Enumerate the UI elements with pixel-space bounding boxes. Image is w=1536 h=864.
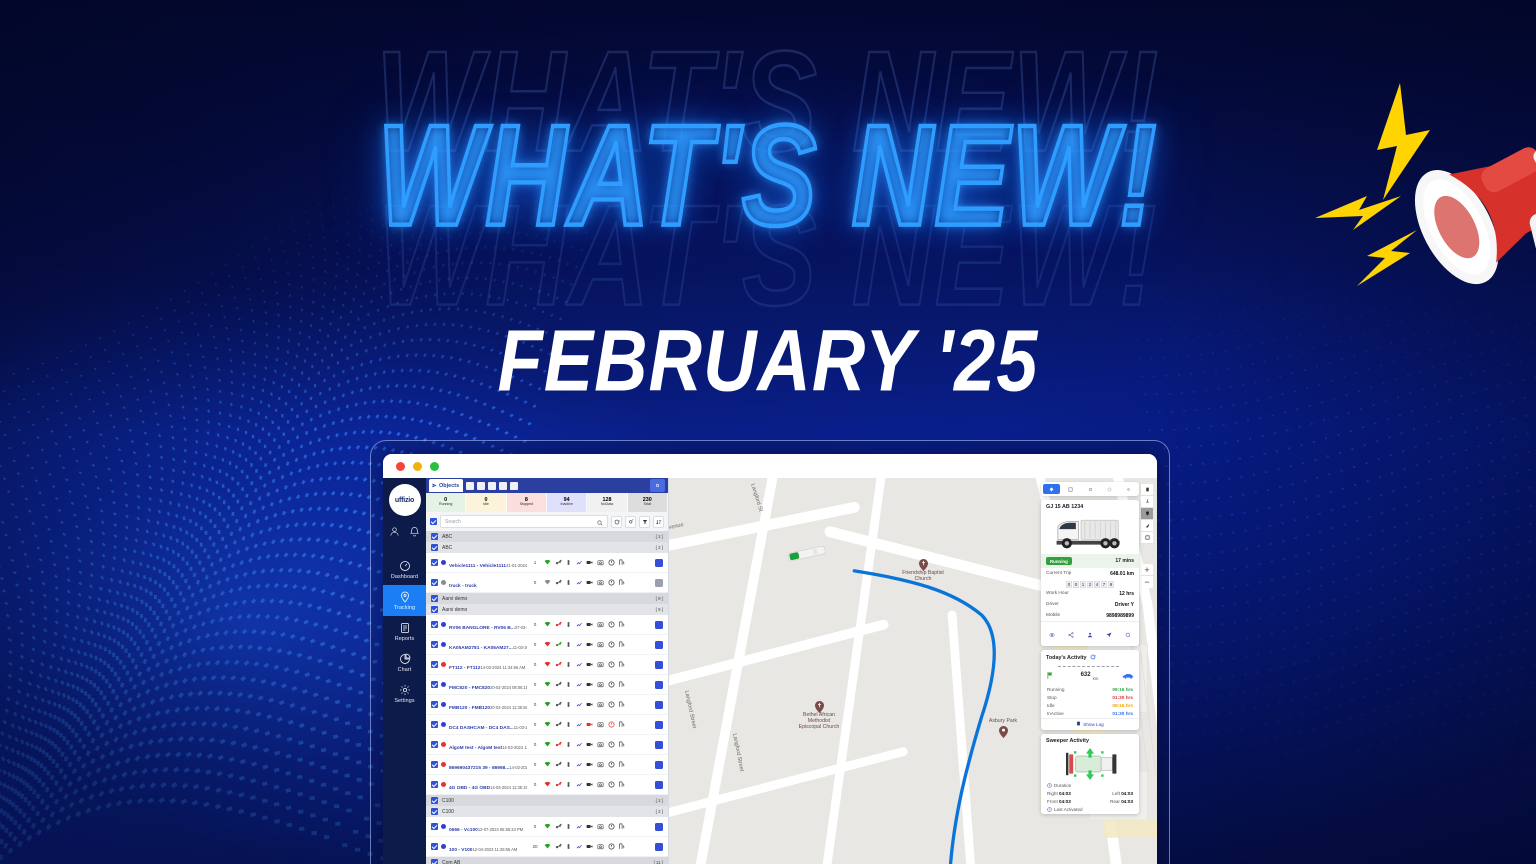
- maximize-button[interactable]: [430, 462, 439, 471]
- fuel-icon[interactable]: [618, 781, 625, 788]
- bell-icon[interactable]: [409, 524, 420, 542]
- status-dot: [441, 742, 446, 747]
- sidebar-item-label: Chart: [398, 667, 412, 673]
- tab-gear[interactable]: [1081, 484, 1098, 494]
- stat-running[interactable]: 0Running: [426, 493, 466, 512]
- fuel-icon[interactable]: [618, 681, 625, 688]
- sidebar-item-settings[interactable]: Settings: [383, 678, 426, 709]
- row-checkbox[interactable]: [431, 721, 438, 728]
- sweeper-label: Front: [1047, 799, 1058, 804]
- sidebar-item-chart[interactable]: Chart: [383, 647, 426, 678]
- vehicle-timestamp: 14-03-2024 11:11:27 AM: [509, 765, 527, 770]
- battery-icon[interactable]: [565, 761, 572, 768]
- row-action-button[interactable]: [655, 579, 663, 587]
- vehicle-timestamp: 20-02-2024 11:35:58 AM: [490, 705, 527, 710]
- row-checkbox[interactable]: [431, 681, 438, 688]
- vehicle-row[interactable]: 100 - V10012-04-2023 11:26:55 AM20: [426, 837, 668, 857]
- group-checkbox[interactable]: [431, 859, 438, 864]
- camera-icon[interactable]: [586, 701, 593, 708]
- row-checkbox[interactable]: [431, 621, 438, 628]
- fuel-icon[interactable]: [618, 741, 625, 748]
- ignition-key-icon[interactable]: [555, 681, 562, 688]
- row-icons[interactable]: [544, 761, 625, 768]
- group-header[interactable]: Com AB[ 11 ]: [426, 857, 668, 864]
- row-icons[interactable]: [544, 823, 625, 830]
- vehicle-panel-tabs[interactable]: [1041, 482, 1139, 496]
- photo-icon[interactable]: [597, 641, 604, 648]
- search-placeholder: Search: [445, 519, 461, 525]
- battery-icon[interactable]: [565, 843, 572, 850]
- signal-icon[interactable]: [544, 681, 551, 688]
- vehicle-row[interactable]: FT112 - FT11214-03-2024 11:34:56 AM0: [426, 655, 668, 675]
- signal-icon[interactable]: [544, 621, 551, 628]
- sidebar-item-label: Settings: [394, 698, 414, 704]
- current-trip-value: 648.01 km: [1110, 571, 1134, 577]
- camera-icon[interactable]: [586, 641, 593, 648]
- row-action-button[interactable]: [655, 823, 663, 831]
- row-action-button[interactable]: [655, 761, 663, 769]
- vehicle-row[interactable]: 869690437215 39 - 86968...14-03-2024 11:…: [426, 755, 668, 775]
- poi-friendship-baptist-church[interactable]: Friendship Baptist Church: [901, 558, 945, 583]
- layers-icon[interactable]: [1141, 484, 1153, 496]
- activity-label: Idle: [1047, 703, 1055, 708]
- window-titlebar: [383, 454, 1157, 478]
- stat-total[interactable]: 230Total: [628, 493, 668, 512]
- navigate-icon[interactable]: [1106, 625, 1112, 643]
- sidebar-item-dashboard[interactable]: Dashboard: [383, 554, 426, 585]
- photo-icon[interactable]: [597, 579, 604, 586]
- vehicle-row[interactable]: truck - truck.0: [426, 573, 668, 593]
- row-icons[interactable]: [544, 661, 625, 668]
- fuel-icon[interactable]: [618, 761, 625, 768]
- camera-icon[interactable]: [586, 781, 593, 788]
- ignition-key-icon[interactable]: [555, 701, 562, 708]
- status-dot: [441, 722, 446, 727]
- ignition-key-icon[interactable]: [555, 661, 562, 668]
- row-icons[interactable]: [544, 781, 625, 788]
- signal-icon[interactable]: [544, 701, 551, 708]
- vehicle-row[interactable]: FMB120 - FMB12020-02-2024 11:35:58 AM0: [426, 695, 668, 715]
- group-checkbox[interactable]: [431, 544, 438, 551]
- sidebar-item-reports[interactable]: Reports: [383, 616, 426, 647]
- filter-icon[interactable]: [639, 516, 650, 528]
- chart-icon[interactable]: [576, 701, 583, 708]
- vehicle-name: FMB120 - FMB120: [449, 706, 490, 711]
- signal-icon[interactable]: [544, 781, 551, 788]
- row-icons[interactable]: [544, 701, 625, 708]
- chart-icon[interactable]: [576, 741, 583, 748]
- photo-icon[interactable]: [597, 621, 604, 628]
- group-checkbox[interactable]: [431, 595, 438, 602]
- ignition-key-icon[interactable]: [555, 559, 562, 566]
- signal-icon[interactable]: [544, 761, 551, 768]
- person-icon[interactable]: [1087, 625, 1093, 643]
- group-header[interactable]: ABC[ 2 ]: [426, 542, 668, 553]
- group-header[interactable]: C100[ 2 ]: [426, 806, 668, 817]
- vehicle-row[interactable]: 4G OBD - 4G OBD14-03-2024 11:35:19 AM0: [426, 775, 668, 795]
- row-icons[interactable]: [544, 641, 625, 648]
- sweeper-activity-title: Sweeper Activity: [1041, 734, 1139, 746]
- activity-label: InActive: [1047, 711, 1064, 716]
- photo-icon[interactable]: [597, 741, 604, 748]
- alert-icon[interactable]: [608, 843, 615, 850]
- marker-icon[interactable]: [1141, 508, 1153, 520]
- refresh-icon[interactable]: [611, 516, 622, 528]
- alert-icon[interactable]: [608, 823, 615, 830]
- battery-icon[interactable]: [565, 559, 572, 566]
- stat-nodata[interactable]: 128NoData: [587, 493, 627, 512]
- row-action-button[interactable]: [655, 681, 663, 689]
- vehicle-speed: 0: [530, 782, 540, 787]
- vehicle-row[interactable]: FMC820 - FMC82020-02-2024 08:06:15 PM0: [426, 675, 668, 695]
- vehicle-row[interactable]: AlgoM test - AlgoM test14-03-2024 11:30:…: [426, 735, 668, 755]
- mobile-label: Mobile: [1046, 613, 1060, 618]
- vehicle-row[interactable]: DC4 DASHCAM - DC4 DAS...11-03-2024 06:47…: [426, 715, 668, 735]
- tab-info[interactable]: [1043, 484, 1060, 494]
- signal-icon[interactable]: [544, 661, 551, 668]
- photo-icon[interactable]: [597, 843, 604, 850]
- group-header[interactable]: Aarvi demo[ 9 ]: [426, 604, 668, 615]
- photo-icon[interactable]: [597, 761, 604, 768]
- status-dot: [441, 560, 446, 565]
- ignition-key-icon[interactable]: [555, 621, 562, 628]
- vehicle-list[interactable]: ABC[ 2 ]ABC[ 2 ]Vehicle1111 - Vehicle111…: [426, 531, 668, 864]
- app-body: uffizio Dashboard Tracking: [383, 478, 1157, 864]
- fuel-icon[interactable]: [618, 579, 625, 586]
- row-action-button[interactable]: [655, 661, 663, 669]
- row-icons[interactable]: [544, 681, 625, 688]
- vehicle-info: DC4 DASHCAM - DC4 DAS...11-03-2024 06:47…: [449, 716, 527, 734]
- group-checkbox[interactable]: [431, 533, 438, 540]
- chart-icon[interactable]: [576, 761, 583, 768]
- sidebar-item-label: Dashboard: [391, 574, 418, 580]
- vehicle-row[interactable]: KA05AM2781 - KA05AM27...11-03-2024 12:50…: [426, 635, 668, 655]
- row-icons[interactable]: [544, 559, 625, 566]
- row-action-button[interactable]: [655, 621, 663, 629]
- activity-row: Idle09:16 hrs: [1041, 701, 1139, 709]
- tab-grid[interactable]: [1062, 484, 1079, 494]
- vehicle-name: DC4 DASHCAM - DC4 DAS...: [449, 726, 514, 731]
- group-name: ABC: [442, 545, 452, 551]
- photo-icon[interactable]: [597, 701, 604, 708]
- odometer: 0012479: [1041, 579, 1139, 588]
- alert-icon[interactable]: [608, 579, 615, 586]
- church-pin-icon: [815, 700, 824, 712]
- activity-label: Stop: [1047, 695, 1057, 700]
- chart-icon[interactable]: [576, 641, 583, 648]
- chart-icon[interactable]: [576, 621, 583, 628]
- zoom-icon[interactable]: [1125, 625, 1131, 643]
- chart-icon[interactable]: [576, 781, 583, 788]
- vehicle-timestamp: 11-03-2024 12:50:42 PM: [513, 645, 527, 650]
- zoom-in-button[interactable]: +: [1141, 564, 1153, 576]
- group-name: C100: [442, 809, 454, 815]
- person-icon[interactable]: [477, 482, 485, 490]
- fuel-icon[interactable]: [618, 559, 625, 566]
- current-trip-label: Current Trip: [1046, 571, 1071, 576]
- row-action-button[interactable]: [655, 641, 663, 649]
- chart-icon[interactable]: [576, 843, 583, 850]
- chart-icon[interactable]: [576, 579, 583, 586]
- driver-row: Driver Driver Y: [1041, 599, 1139, 610]
- signal-icon[interactable]: [544, 721, 551, 728]
- group-header[interactable]: Aarvi demo[ 9 ]: [426, 593, 668, 604]
- status-dot: [441, 682, 446, 687]
- row-action-button[interactable]: [655, 721, 663, 729]
- measure-icon[interactable]: [1141, 520, 1153, 532]
- fuel-icon[interactable]: [618, 661, 625, 668]
- stat-label: NoData: [601, 503, 613, 507]
- row-action-button[interactable]: [655, 781, 663, 789]
- stat-inactive[interactable]: 94Inactive: [547, 493, 587, 512]
- alert-icon[interactable]: [608, 559, 615, 566]
- vehicle-row[interactable]: Vehicle1111 - Vehicle111131-01-2024 11:0…: [426, 553, 668, 573]
- row-action-button[interactable]: [655, 741, 663, 749]
- row-action-button[interactable]: [655, 843, 663, 851]
- vehicle-info: FT112 - FT11214-03-2024 11:34:56 AM: [449, 656, 527, 674]
- signal-icon[interactable]: [544, 579, 551, 586]
- battery-icon[interactable]: [565, 621, 572, 628]
- vehicle-speed: 0: [530, 682, 540, 687]
- camera-icon[interactable]: [586, 741, 593, 748]
- photo-icon[interactable]: [597, 559, 604, 566]
- status-duration: 17 mins: [1115, 558, 1134, 564]
- signal-icon[interactable]: [544, 741, 551, 748]
- distance-row: 632km: [1041, 664, 1139, 685]
- fuel-icon[interactable]: [618, 721, 625, 728]
- sidebar-item-tracking[interactable]: Tracking: [383, 585, 426, 616]
- row-checkbox[interactable]: [431, 761, 438, 768]
- group-header[interactable]: ABC[ 2 ]: [426, 531, 668, 542]
- ignition-key-icon[interactable]: [555, 761, 562, 768]
- building-icon[interactable]: [466, 482, 474, 490]
- status-dot: [441, 762, 446, 767]
- row-checkbox[interactable]: [431, 579, 438, 586]
- camera-icon[interactable]: [586, 559, 593, 566]
- vehicle-name: FMC820 - FMC820: [449, 686, 490, 691]
- row-icons[interactable]: [544, 721, 625, 728]
- row-icons[interactable]: [544, 741, 625, 748]
- ignition-key-icon[interactable]: [555, 641, 562, 648]
- group-checkbox[interactable]: [431, 808, 438, 815]
- gear-icon[interactable]: [650, 479, 665, 492]
- signal-icon[interactable]: [544, 559, 551, 566]
- battery-icon[interactable]: [565, 721, 572, 728]
- fuel-icon[interactable]: [618, 823, 625, 830]
- show-log-button[interactable]: Show Log: [1041, 718, 1139, 730]
- chart-icon[interactable]: [576, 681, 583, 688]
- chart-icon[interactable]: [576, 721, 583, 728]
- chart-icon[interactable]: [576, 661, 583, 668]
- map-tool-controls[interactable]: [1141, 484, 1153, 544]
- vehicle-timestamp: 12-07-2024 05:56:23 PM: [478, 827, 523, 832]
- battery-icon[interactable]: [565, 681, 572, 688]
- camera-icon[interactable]: [586, 843, 593, 850]
- stat-label: Stopped: [520, 503, 533, 507]
- map-zoom-controls[interactable]: + −: [1141, 564, 1153, 588]
- camera-icon[interactable]: [586, 761, 593, 768]
- close-button[interactable]: [396, 462, 405, 471]
- camera-icon[interactable]: [586, 681, 593, 688]
- vehicle-name: 869690437215 39 - 86968...: [449, 766, 509, 771]
- signal-icon[interactable]: [544, 823, 551, 830]
- alert-icon[interactable]: [608, 621, 615, 628]
- stat-stopped[interactable]: 8Stopped: [507, 493, 547, 512]
- vehicle-timestamp: 14-03-2024 11:35:19 AM: [490, 785, 527, 790]
- todays-activity-card: Today's Activity 632km Run: [1041, 650, 1139, 730]
- row-checkbox[interactable]: [431, 559, 438, 566]
- battery-icon[interactable]: [565, 579, 572, 586]
- clock-icon: [1047, 783, 1052, 789]
- camera-icon[interactable]: [586, 579, 593, 586]
- row-checkbox[interactable]: [431, 661, 438, 668]
- camera-icon[interactable]: [586, 721, 593, 728]
- select-all-checkbox[interactable]: [430, 518, 437, 525]
- alert-icon[interactable]: [608, 761, 615, 768]
- photo-icon[interactable]: [597, 661, 604, 668]
- settings-icon[interactable]: [625, 516, 636, 528]
- group-name: C100: [442, 798, 454, 804]
- poi-asbury-park[interactable]: Asbury Park: [983, 718, 1023, 737]
- photo-icon[interactable]: [597, 781, 604, 788]
- fuel-icon[interactable]: [618, 701, 625, 708]
- square-icon[interactable]: [1141, 532, 1153, 544]
- row-icons[interactable]: [544, 621, 625, 628]
- group-checkbox[interactable]: [431, 606, 438, 613]
- vehicle-row[interactable]: 0666 - Vc10012-07-2024 05:56:23 PM0: [426, 817, 668, 837]
- eye-icon[interactable]: [1049, 625, 1055, 643]
- zoom-out-button[interactable]: −: [1141, 576, 1153, 588]
- alert-icon[interactable]: [608, 681, 615, 688]
- search-input[interactable]: Search: [440, 515, 608, 528]
- row-checkbox[interactable]: [431, 823, 438, 830]
- activity-value: 09:16 hrs: [1112, 687, 1133, 692]
- row-icons[interactable]: [544, 579, 625, 586]
- group-checkbox[interactable]: [431, 797, 438, 804]
- signal-icon[interactable]: [544, 843, 551, 850]
- sweeper-row: Front 04:03 Rear 04:03: [1041, 798, 1139, 806]
- row-icons[interactable]: [544, 843, 625, 850]
- driver-label: Driver: [1046, 602, 1059, 607]
- share-icon[interactable]: [1068, 625, 1074, 643]
- minimize-button[interactable]: [413, 462, 422, 471]
- fuel-icon[interactable]: [618, 843, 625, 850]
- sweeper-label: Rear: [1110, 799, 1120, 804]
- row-checkbox[interactable]: [431, 781, 438, 788]
- vehicle-speed: 0: [530, 762, 540, 767]
- vehicle-speed: 0: [530, 622, 540, 627]
- truck-image: [1041, 512, 1139, 554]
- tab-objects[interactable]: Objects: [429, 479, 463, 492]
- user-icon[interactable]: [389, 524, 400, 542]
- ignition-key-icon[interactable]: [555, 741, 562, 748]
- tab-clock[interactable]: [1101, 484, 1118, 494]
- alert-icon[interactable]: [608, 781, 615, 788]
- alert-icon[interactable]: [608, 661, 615, 668]
- ignition-key-icon[interactable]: [555, 823, 562, 830]
- group-name: Aarvi demo: [442, 607, 467, 613]
- chart-icon[interactable]: [576, 559, 583, 566]
- activity-row: InActive01:30 hrs: [1041, 710, 1139, 718]
- fuel-icon[interactable]: [618, 641, 625, 648]
- driver-icon[interactable]: [488, 482, 496, 490]
- row-checkbox[interactable]: [431, 843, 438, 850]
- vehicle-name: 100 - V100: [449, 848, 472, 853]
- vehicle-action-icons[interactable]: [1041, 621, 1139, 646]
- vehicle-row[interactable]: RV06 BANGLORE - RV06 B...07-03-2024 08:0…: [426, 615, 668, 635]
- fuel-icon[interactable]: [618, 621, 625, 628]
- battery-icon[interactable]: [565, 823, 572, 830]
- map-canvas[interactable]: Langford St Avenue Langford Street Langf…: [669, 478, 1157, 864]
- vehicle-info: 4G OBD - 4G OBD14-03-2024 11:35:19 AM: [449, 776, 527, 794]
- battery-icon[interactable]: [565, 661, 572, 668]
- battery-icon[interactable]: [565, 741, 572, 748]
- sort-icon[interactable]: [653, 516, 664, 528]
- chat-icon[interactable]: [510, 482, 518, 490]
- logo-text: uffizio: [395, 497, 414, 504]
- alert-icon[interactable]: [608, 741, 615, 748]
- pedestrian-icon[interactable]: [1141, 496, 1153, 508]
- vehicle-speed: 0: [530, 662, 540, 667]
- row-checkbox[interactable]: [431, 701, 438, 708]
- status-dot: [441, 844, 446, 849]
- battery-icon[interactable]: [565, 781, 572, 788]
- tab-more[interactable]: [1120, 484, 1137, 494]
- vehicle-timestamp: 31-01-2024 11:03:17 AM: [506, 563, 527, 568]
- row-action-button[interactable]: [655, 701, 663, 709]
- camera-icon[interactable]: [586, 621, 593, 628]
- alert-icon[interactable]: [608, 721, 615, 728]
- battery-icon[interactable]: [565, 701, 572, 708]
- group-header[interactable]: C100[ 2 ]: [426, 795, 668, 806]
- poi-bethel-church[interactable]: Bethel African Methodist Episcopal Churc…: [797, 700, 841, 730]
- sweeper-value: 04:03: [1059, 791, 1071, 796]
- vehicle-info: KA05AM2781 - KA05AM27...11-03-2024 12:50…: [449, 636, 527, 654]
- vehicle-speed: 0: [530, 742, 540, 747]
- ignition-key-icon[interactable]: [555, 843, 562, 850]
- photo-icon[interactable]: [597, 681, 604, 688]
- vehicle-name: FT112 - FT112: [449, 666, 480, 671]
- last-activated-row: Last Activated: [1041, 806, 1139, 814]
- row-action-button[interactable]: [655, 559, 663, 567]
- ignition-key-icon[interactable]: [555, 781, 562, 788]
- odometer-digit: 9: [1108, 581, 1114, 588]
- vehicle-plate: GJ 15 AB 1234: [1041, 500, 1139, 512]
- vehicle-name: 0666 - Vc100: [449, 828, 478, 833]
- poi-label: Bethel African Methodist Episcopal Churc…: [797, 713, 841, 730]
- row-checkbox[interactable]: [431, 641, 438, 648]
- alert-icon[interactable]: [608, 641, 615, 648]
- signal-icon[interactable]: [544, 641, 551, 648]
- battery-icon[interactable]: [565, 641, 572, 648]
- photo-icon[interactable]: [597, 721, 604, 728]
- stat-label: Idle: [483, 503, 489, 507]
- device-icon[interactable]: [499, 482, 507, 490]
- row-checkbox[interactable]: [431, 741, 438, 748]
- ignition-key-icon[interactable]: [555, 721, 562, 728]
- chart-icon[interactable]: [576, 823, 583, 830]
- camera-icon[interactable]: [586, 661, 593, 668]
- photo-icon[interactable]: [597, 823, 604, 830]
- stat-idle[interactable]: 0Idle: [466, 493, 506, 512]
- work-hour-label: Work Hour: [1046, 591, 1069, 596]
- ignition-key-icon[interactable]: [555, 579, 562, 586]
- activity-value: 01:30 hrs: [1112, 711, 1133, 716]
- alert-icon[interactable]: [608, 701, 615, 708]
- camera-icon[interactable]: [586, 823, 593, 830]
- refresh-icon[interactable]: [1090, 654, 1096, 662]
- car-icon: [1122, 667, 1134, 685]
